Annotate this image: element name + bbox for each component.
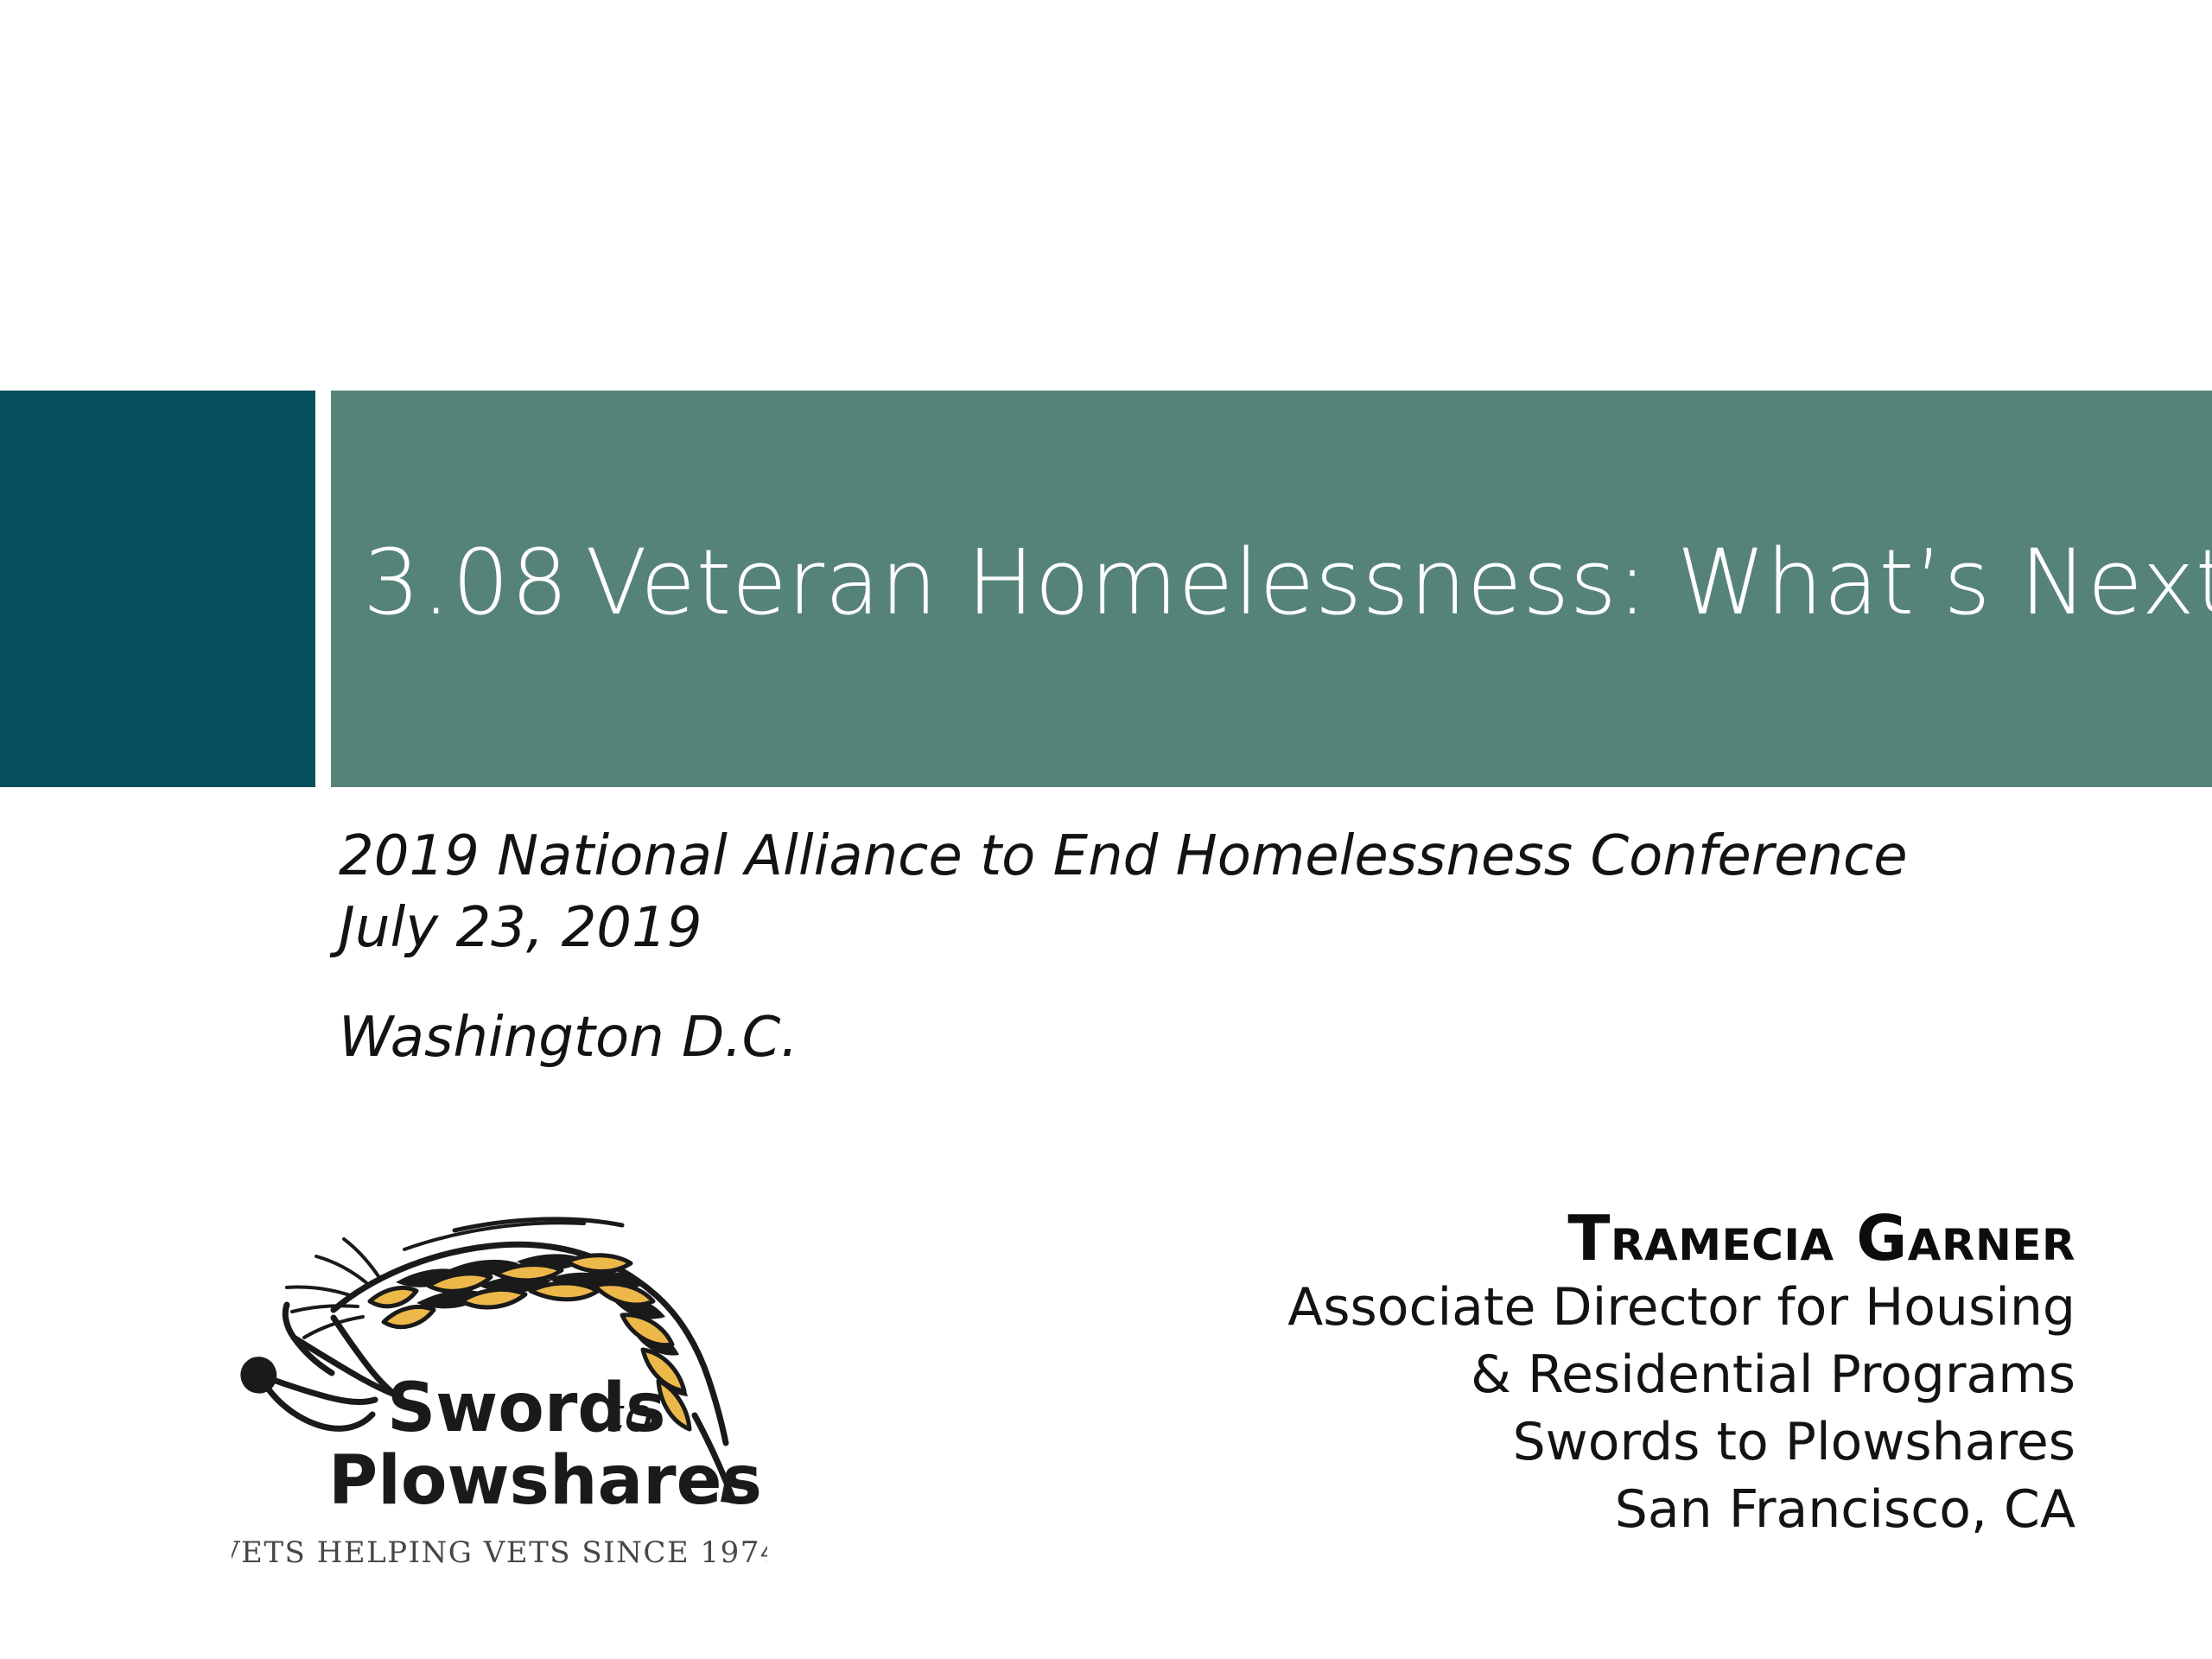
logo-word-to: to <box>605 1387 653 1443</box>
presenter-title-line-1: Associate Director for Housing <box>1056 1274 2075 1341</box>
presenter-organization: Swords to Plowshares <box>1056 1408 2075 1476</box>
title-accent-block <box>0 391 315 787</box>
title-session-text: Veteran Homelessness: What’s Next? <box>586 530 2212 635</box>
event-conference-name: 2019 National Alliance to End Homelessne… <box>339 821 1980 893</box>
presenter-city: San Francisco, CA <box>1056 1476 2075 1543</box>
sword-hilt-icon <box>243 1305 401 1428</box>
title-session-number: 3.08 <box>363 530 570 635</box>
presenter-title-line-2: & Residential Programs <box>1056 1341 2075 1408</box>
slide-canvas: 3.08Veteran Homelessness: What’s Next? 2… <box>0 0 2212 1659</box>
logo-word-plowshares: Plowshares <box>328 1442 762 1520</box>
presenter-block: Tramecia Garner Associate Director for H… <box>1056 1203 2075 1543</box>
logo-tagline: VETS HELPING VETS SINCE 1974 <box>232 1535 767 1570</box>
page-title: 3.08Veteran Homelessness: What’s Next? <box>363 534 2177 631</box>
swords-to-plowshares-logo: Swords to Plowshares VETS HELPING VETS S… <box>232 1199 767 1580</box>
presenter-name: Tramecia Garner <box>1056 1203 2075 1274</box>
event-info-block: 2019 National Alliance to End Homelessne… <box>339 821 1980 1075</box>
logo-artwork: Swords to Plowshares VETS HELPING VETS S… <box>232 1199 767 1580</box>
event-date: July 23, 2019 <box>339 893 1980 964</box>
event-location: Washington D.C. <box>339 1002 1980 1074</box>
